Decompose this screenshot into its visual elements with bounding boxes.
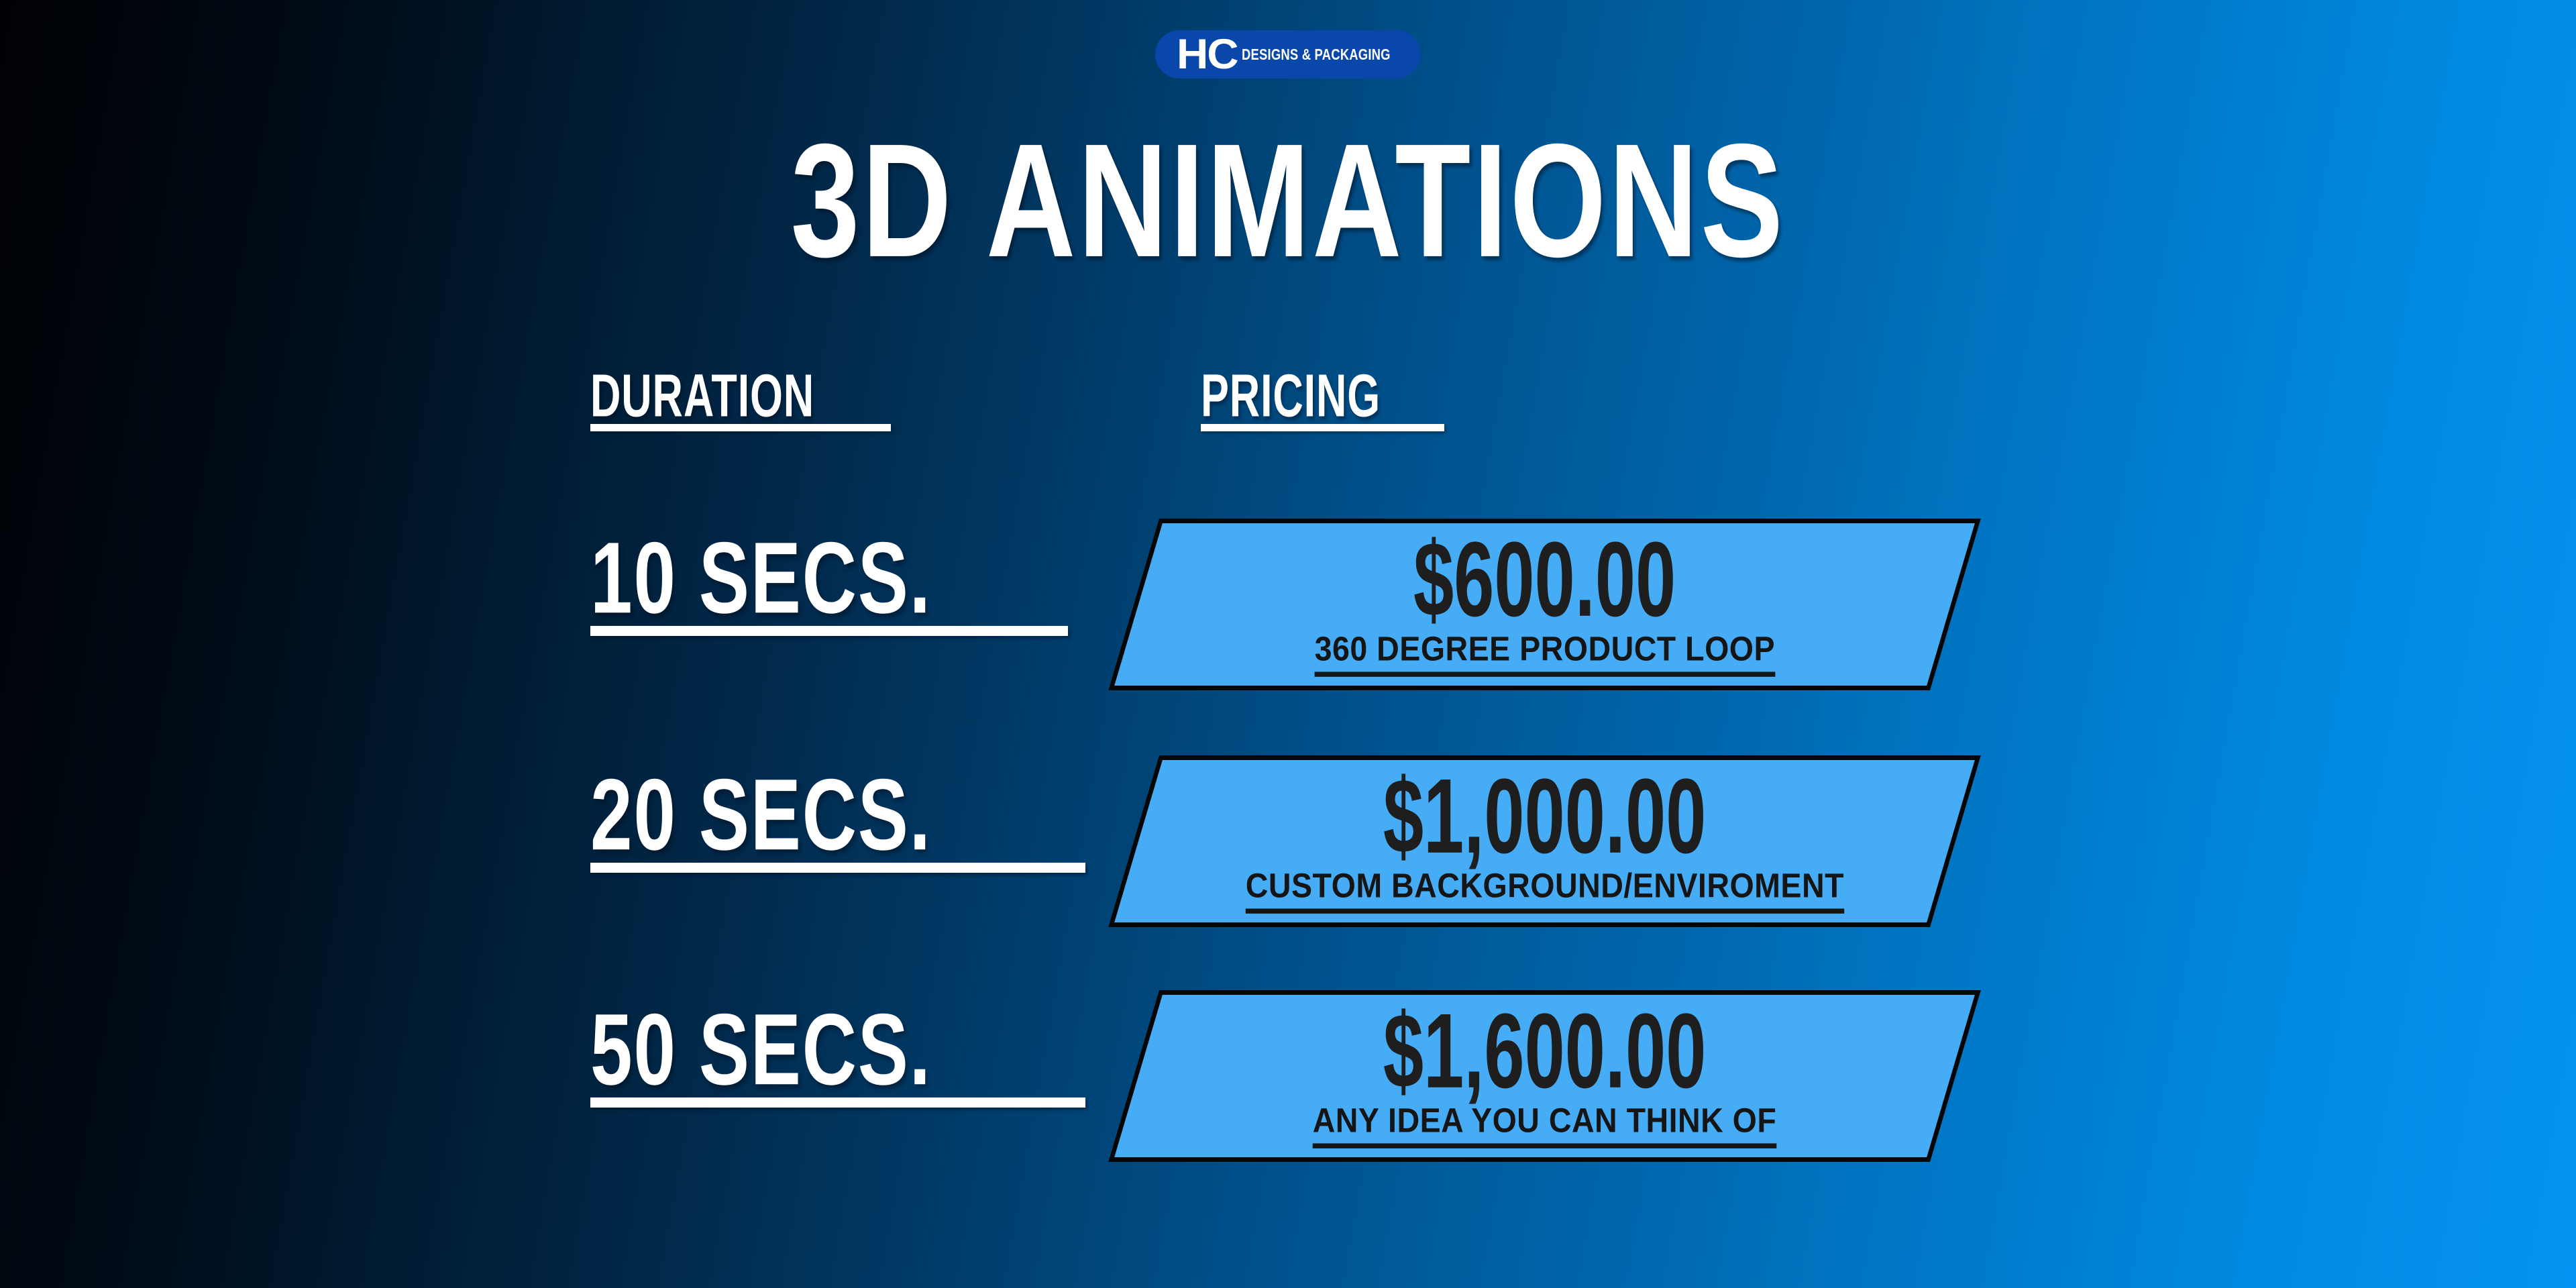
price-amount: $1,600.00 (1383, 1000, 1707, 1102)
price-banner[interactable]: $600.00 360 DEGREE PRODUCT LOOP (1134, 519, 1955, 690)
page-title-text: 3D ANIMATIONS (791, 119, 1786, 281)
price-banner[interactable]: $1,600.00 ANY IDEA YOU CAN THINK OF (1134, 990, 1955, 1162)
price-banner-content: $1,000.00 CUSTOM BACKGROUND/ENVIROMENT (1134, 755, 1955, 927)
price-description: CUSTOM BACKGROUND/ENVIROMENT (1245, 869, 1843, 914)
price-banner-content: $600.00 360 DEGREE PRODUCT LOOP (1134, 519, 1955, 690)
page-title: 3D ANIMATIONS (0, 119, 2576, 264)
price-banner-content: $1,600.00 ANY IDEA YOU CAN THINK OF (1134, 990, 1955, 1162)
price-description: ANY IDEA YOU CAN THINK OF (1313, 1104, 1777, 1148)
column-header-pricing: PRICING (1201, 366, 1444, 431)
pricing-row: 20 SECS. $1,000.00 CUSTOM BACKGROUND/ENV… (0, 750, 2576, 924)
price-amount: $600.00 (1413, 529, 1676, 631)
pricing-poster: HC DESIGNS & PACKAGING 3D ANIMATIONS DUR… (0, 0, 2576, 1288)
duration-label: 50 SECS. (590, 1000, 932, 1101)
duration-cell: 50 SECS. (590, 1000, 1085, 1108)
pricing-row: 10 SECS. $600.00 360 DEGREE PRODUCT LOOP (0, 513, 2576, 688)
logo-tagline: DESIGNS & PACKAGING (1242, 46, 1391, 62)
price-description: 360 DEGREE PRODUCT LOOP (1314, 633, 1774, 677)
duration-cell: 10 SECS. (590, 528, 1068, 636)
logo-monogram: HC (1177, 34, 1237, 76)
column-header-duration-label: DURATION (590, 366, 814, 426)
price-banner[interactable]: $1,000.00 CUSTOM BACKGROUND/ENVIROMENT (1134, 755, 1955, 927)
brand-logo: HC DESIGNS & PACKAGING (1155, 30, 1421, 78)
duration-cell: 20 SECS. (590, 765, 1085, 873)
price-amount: $1,000.00 (1383, 765, 1707, 867)
duration-label: 20 SECS. (590, 765, 932, 866)
column-header-duration: DURATION (590, 366, 891, 431)
pricing-row: 50 SECS. $1,600.00 ANY IDEA YOU CAN THIN… (0, 985, 2576, 1159)
column-header-pricing-label: PRICING (1201, 366, 1381, 426)
duration-label: 10 SECS. (590, 528, 932, 629)
